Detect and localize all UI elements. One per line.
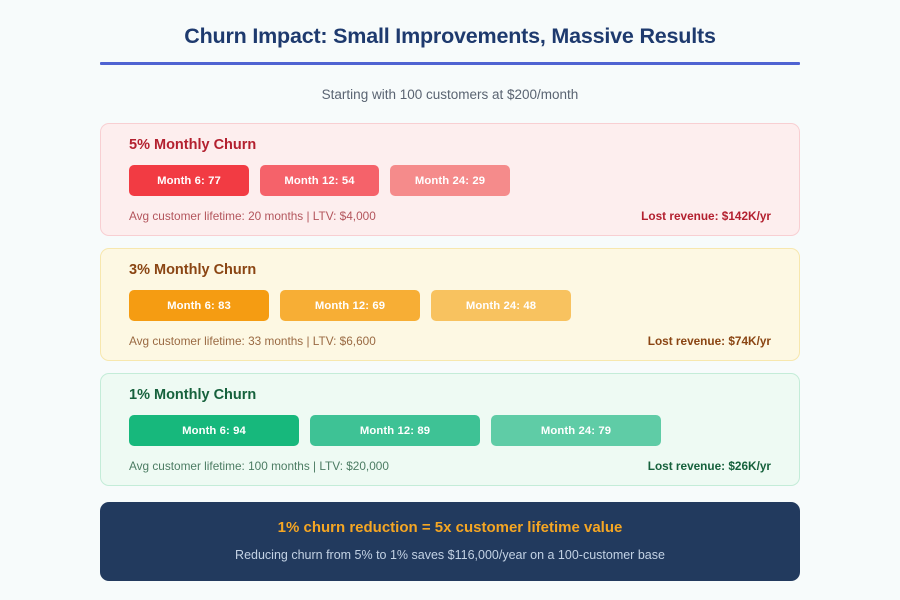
retention-bar-label: Month 24: 48 xyxy=(466,300,536,312)
churn-card: 5% Monthly ChurnMonth 6: 77Month 12: 54M… xyxy=(100,123,800,236)
header: Churn Impact: Small Improvements, Massiv… xyxy=(0,0,900,102)
retention-bar: Month 12: 54 xyxy=(260,165,379,196)
retention-bar-label: Month 12: 69 xyxy=(315,300,385,312)
retention-bars-row: Month 6: 77Month 12: 54Month 24: 29 xyxy=(129,165,771,196)
retention-bars-row: Month 6: 83Month 12: 69Month 24: 48 xyxy=(129,290,771,321)
retention-bar: Month 24: 79 xyxy=(491,415,661,446)
retention-bar: Month 12: 89 xyxy=(310,415,480,446)
churn-card-title: 3% Monthly Churn xyxy=(129,262,771,278)
churn-card-title: 1% Monthly Churn xyxy=(129,387,771,403)
page-subtitle: Starting with 100 customers at $200/mont… xyxy=(0,87,900,102)
churn-impact-infographic: Churn Impact: Small Improvements, Massiv… xyxy=(0,0,900,600)
retention-bar: Month 6: 83 xyxy=(129,290,269,321)
retention-bar-label: Month 6: 83 xyxy=(167,300,231,312)
retention-bar-label: Month 12: 54 xyxy=(284,175,354,187)
lifetime-ltv-text: Avg customer lifetime: 33 months | LTV: … xyxy=(129,334,376,348)
retention-bar-label: Month 6: 94 xyxy=(182,425,246,437)
churn-scenario-list: 5% Monthly ChurnMonth 6: 77Month 12: 54M… xyxy=(0,123,900,486)
retention-bar-label: Month 6: 77 xyxy=(157,175,221,187)
churn-card-footer: Avg customer lifetime: 20 months | LTV: … xyxy=(129,209,771,223)
summary-banner: 1% churn reduction = 5x customer lifetim… xyxy=(100,502,800,581)
retention-bar: Month 6: 77 xyxy=(129,165,249,196)
lost-revenue-text: Lost revenue: $74K/yr xyxy=(648,334,771,348)
retention-bar-label: Month 24: 79 xyxy=(541,425,611,437)
banner-subtext: Reducing churn from 5% to 1% saves $116,… xyxy=(120,548,780,562)
retention-bar: Month 12: 69 xyxy=(280,290,420,321)
lost-revenue-text: Lost revenue: $142K/yr xyxy=(641,209,771,223)
lifetime-ltv-text: Avg customer lifetime: 20 months | LTV: … xyxy=(129,209,376,223)
retention-bars-row: Month 6: 94Month 12: 89Month 24: 79 xyxy=(129,415,771,446)
lifetime-ltv-text: Avg customer lifetime: 100 months | LTV:… xyxy=(129,459,389,473)
churn-card-footer: Avg customer lifetime: 100 months | LTV:… xyxy=(129,459,771,473)
page-title: Churn Impact: Small Improvements, Massiv… xyxy=(0,24,900,49)
churn-card: 3% Monthly ChurnMonth 6: 83Month 12: 69M… xyxy=(100,248,800,361)
churn-card: 1% Monthly ChurnMonth 6: 94Month 12: 89M… xyxy=(100,373,800,486)
retention-bar: Month 6: 94 xyxy=(129,415,299,446)
retention-bar-label: Month 12: 89 xyxy=(360,425,430,437)
retention-bar: Month 24: 29 xyxy=(390,165,510,196)
title-underline-rule xyxy=(100,62,800,65)
churn-card-title: 5% Monthly Churn xyxy=(129,137,771,153)
lost-revenue-text: Lost revenue: $26K/yr xyxy=(648,459,771,473)
retention-bar-label: Month 24: 29 xyxy=(415,175,485,187)
retention-bar: Month 24: 48 xyxy=(431,290,571,321)
banner-headline: 1% churn reduction = 5x customer lifetim… xyxy=(120,519,780,536)
churn-card-footer: Avg customer lifetime: 33 months | LTV: … xyxy=(129,334,771,348)
